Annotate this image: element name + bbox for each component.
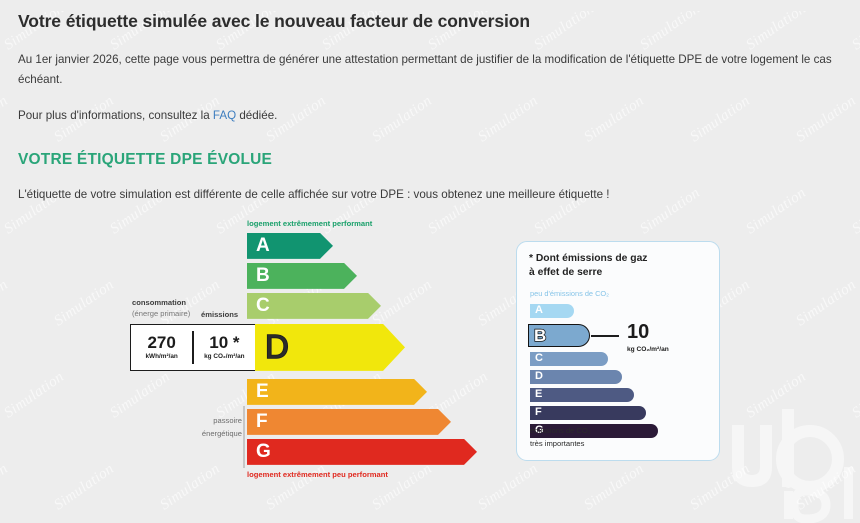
energy-selected-arrow: D — [255, 324, 405, 371]
consumption-label-sub: (énerge primaire) — [132, 309, 190, 318]
energy-class-letter: E — [256, 382, 269, 401]
energy-class-letter: B — [256, 266, 270, 285]
energy-class-arrow-g: G — [247, 439, 477, 465]
consumption-unit: kWh/m²/an — [131, 354, 192, 361]
faq-link[interactable]: FAQ — [213, 109, 236, 122]
section-subtitle: L'étiquette de votre simulation est diff… — [18, 188, 842, 201]
energy-selected-letter: D — [265, 328, 289, 366]
page-content: Votre étiquette simulée avec le nouveau … — [0, 11, 860, 487]
co2-class-bar-f: F — [530, 406, 646, 420]
emissions-value: 10 * — [194, 334, 255, 352]
intro-paragraph: Au 1er janvier 2026, cette page vous per… — [18, 50, 842, 90]
emissions-value-cell: 10 * kg CO₂/m²/an — [194, 334, 255, 362]
faq-paragraph-prefix: Pour plus d'informations, consultez la — [18, 109, 213, 122]
energy-class-row: B — [247, 263, 357, 289]
energy-class-letter: A — [256, 236, 270, 255]
energy-class-row: G — [247, 439, 477, 465]
energy-class-row: C — [247, 293, 381, 319]
energy-top-caption: logement extrêmement performant — [247, 219, 372, 228]
energy-selected-row: 270 kWh/m²/an 10 * kg CO₂/m²/an D — [130, 324, 475, 371]
co2-unit: kg CO₂/m²/an — [627, 346, 669, 353]
energy-class-arrow-c: C — [247, 293, 381, 319]
co2-class-bar-b: B — [528, 324, 590, 347]
energy-bottom-caption: logement extrêmement peu performant — [247, 470, 388, 479]
co2-panel-title: * Dont émissions de gaz à effet de serre — [529, 252, 647, 280]
energy-class-letter: C — [256, 296, 270, 315]
emissions-unit: kg CO₂/m²/an — [194, 354, 255, 361]
energy-class-letter: F — [256, 412, 268, 431]
co2-top-caption: peu d'émissions de CO₂ — [530, 289, 609, 298]
page-title: Votre étiquette simulée avec le nouveau … — [18, 11, 842, 32]
co2-class-letter: A — [535, 305, 543, 316]
co2-class-bar-e: E — [530, 388, 634, 402]
co2-class-letter: C — [535, 353, 543, 364]
co2-value: 10 — [627, 322, 649, 342]
co2-class-letter: B — [534, 327, 546, 344]
energy-class-letter: G — [256, 442, 271, 461]
consumption-label-main: consommation — [132, 298, 186, 307]
consumption-value: 270 — [131, 334, 192, 352]
co2-emissions-panel: * Dont émissions de gaz à effet de serre… — [516, 241, 720, 461]
co2-class-bar-a: A — [530, 304, 574, 318]
sieve-label-line1: passoire — [213, 416, 242, 425]
co2-class-letter: F — [535, 407, 542, 418]
co2-bottom-caption: émissions de CO₂ très importantes — [530, 424, 591, 451]
co2-class-letter: E — [535, 389, 542, 400]
co2-class-bar-c: C — [530, 352, 608, 366]
energy-class-arrow-a: A — [247, 233, 333, 259]
consumption-value-cell: 270 kWh/m²/an — [131, 334, 192, 362]
sieve-label-line2: énergétique — [202, 429, 242, 438]
section-title: VOTRE ÉTIQUETTE DPE ÉVOLUE — [18, 151, 842, 169]
energy-sieve-label: passoire énergétique — [156, 414, 242, 441]
faq-paragraph: Pour plus d'informations, consultez la F… — [18, 106, 842, 126]
energy-label-chart: logement extrêmement performant ABCEFG 2… — [130, 219, 475, 484]
faq-paragraph-suffix: dédiée. — [236, 109, 277, 122]
dpe-diagram: logement extrêmement performant ABCEFG 2… — [18, 219, 842, 487]
consumption-label: consommation (énerge primaire) — [132, 297, 190, 319]
co2-connector-line — [591, 335, 619, 337]
energy-class-row: E — [247, 379, 427, 405]
co2-class-bar-d: D — [530, 370, 622, 384]
energy-class-row: A — [247, 233, 333, 259]
co2-class-letter: D — [535, 371, 543, 382]
energy-sieve-bracket — [243, 406, 245, 468]
emissions-label: émissions — [201, 310, 238, 319]
energy-class-arrow-f: F — [247, 409, 451, 435]
energy-values-box: 270 kWh/m²/an 10 * kg CO₂/m²/an — [130, 324, 255, 371]
energy-class-arrow-e: E — [247, 379, 427, 405]
energy-class-row: F — [247, 409, 451, 435]
energy-class-arrow-b: B — [247, 263, 357, 289]
